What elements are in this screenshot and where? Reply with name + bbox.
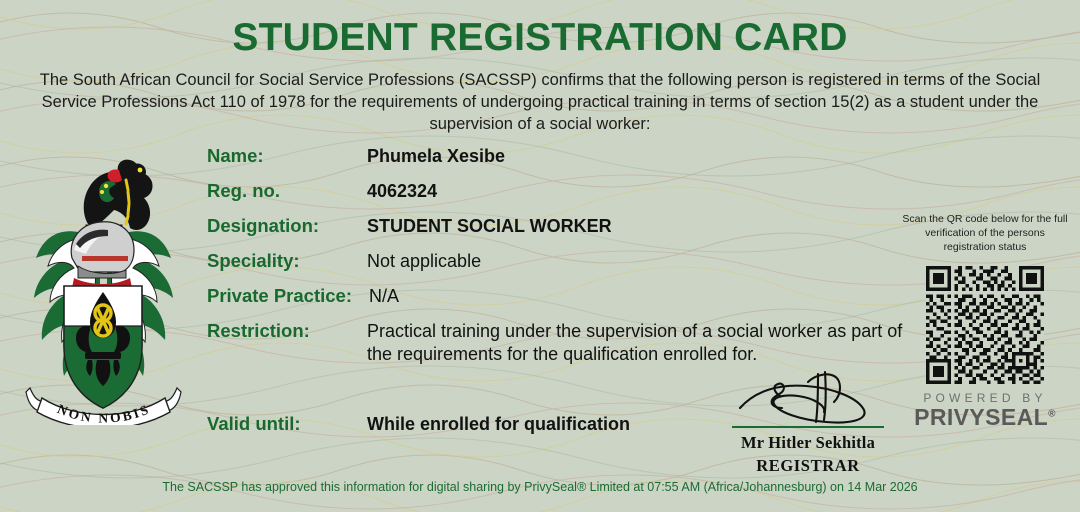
privyseal-name: PRIVYSEAL <box>914 404 1048 430</box>
field-label-designation: Designation: <box>207 215 319 237</box>
field-value-reg-no: 4062324 <box>367 181 437 202</box>
field-label-speciality: Speciality: <box>207 250 300 272</box>
registrar-role: REGISTRAR <box>722 456 894 476</box>
qr-code[interactable] <box>920 266 1050 384</box>
signature-block: Mr Hitler Sekhitla REGISTRAR <box>722 368 894 476</box>
field-row-private-practice: Private Practice: N/A <box>207 285 907 320</box>
field-row-designation: Designation: STUDENT SOCIAL WORKER <box>207 215 907 250</box>
shield <box>64 286 142 408</box>
trademark-symbol: ® <box>1048 408 1056 419</box>
field-value-private-practice: N/A <box>369 286 399 307</box>
field-value-valid-until: While enrolled for qualification <box>367 414 630 435</box>
lion-crest <box>84 160 153 233</box>
sacssp-coat-of-arms: NON NOBIS <box>16 140 191 425</box>
signature-line <box>732 426 884 428</box>
student-registration-card: STUDENT REGISTRATION CARD The South Afri… <box>0 0 1080 512</box>
field-value-designation: STUDENT SOCIAL WORKER <box>367 216 612 237</box>
knight-helm <box>71 222 134 288</box>
field-value-name: Phumela Xesibe <box>367 146 505 167</box>
privyseal-branding: POWERED BY PRIVYSEAL® <box>900 391 1070 430</box>
field-value-restriction: Practical training under the supervision… <box>367 320 907 366</box>
signature-mark <box>722 368 894 426</box>
field-label-private-practice: Private Practice: <box>207 285 352 307</box>
privyseal-wordmark: PRIVYSEAL® <box>900 405 1070 430</box>
field-label-restriction: Restriction: <box>207 320 310 342</box>
field-row-name: Name: Phumela Xesibe <box>207 145 907 180</box>
powered-by-label: POWERED BY <box>900 391 1070 405</box>
qr-hint-text: Scan the QR code below for the full veri… <box>900 212 1070 255</box>
field-label-name: Name: <box>207 145 264 167</box>
qr-panel: Scan the QR code below for the full veri… <box>900 212 1070 429</box>
registrar-name: Mr Hitler Sekhitla <box>722 433 894 453</box>
field-row-reg-no: Reg. no. 4062324 <box>207 180 907 215</box>
footer-approval-text: The SACSSP has approved this information… <box>0 480 1080 494</box>
field-label-valid-until: Valid until: <box>207 413 301 435</box>
page-title: STUDENT REGISTRATION CARD <box>0 18 1080 59</box>
field-value-speciality: Not applicable <box>367 251 481 272</box>
field-row-speciality: Speciality: Not applicable <box>207 250 907 285</box>
field-label-reg-no: Reg. no. <box>207 180 280 202</box>
intro-paragraph: The South African Council for Social Ser… <box>30 70 1050 136</box>
